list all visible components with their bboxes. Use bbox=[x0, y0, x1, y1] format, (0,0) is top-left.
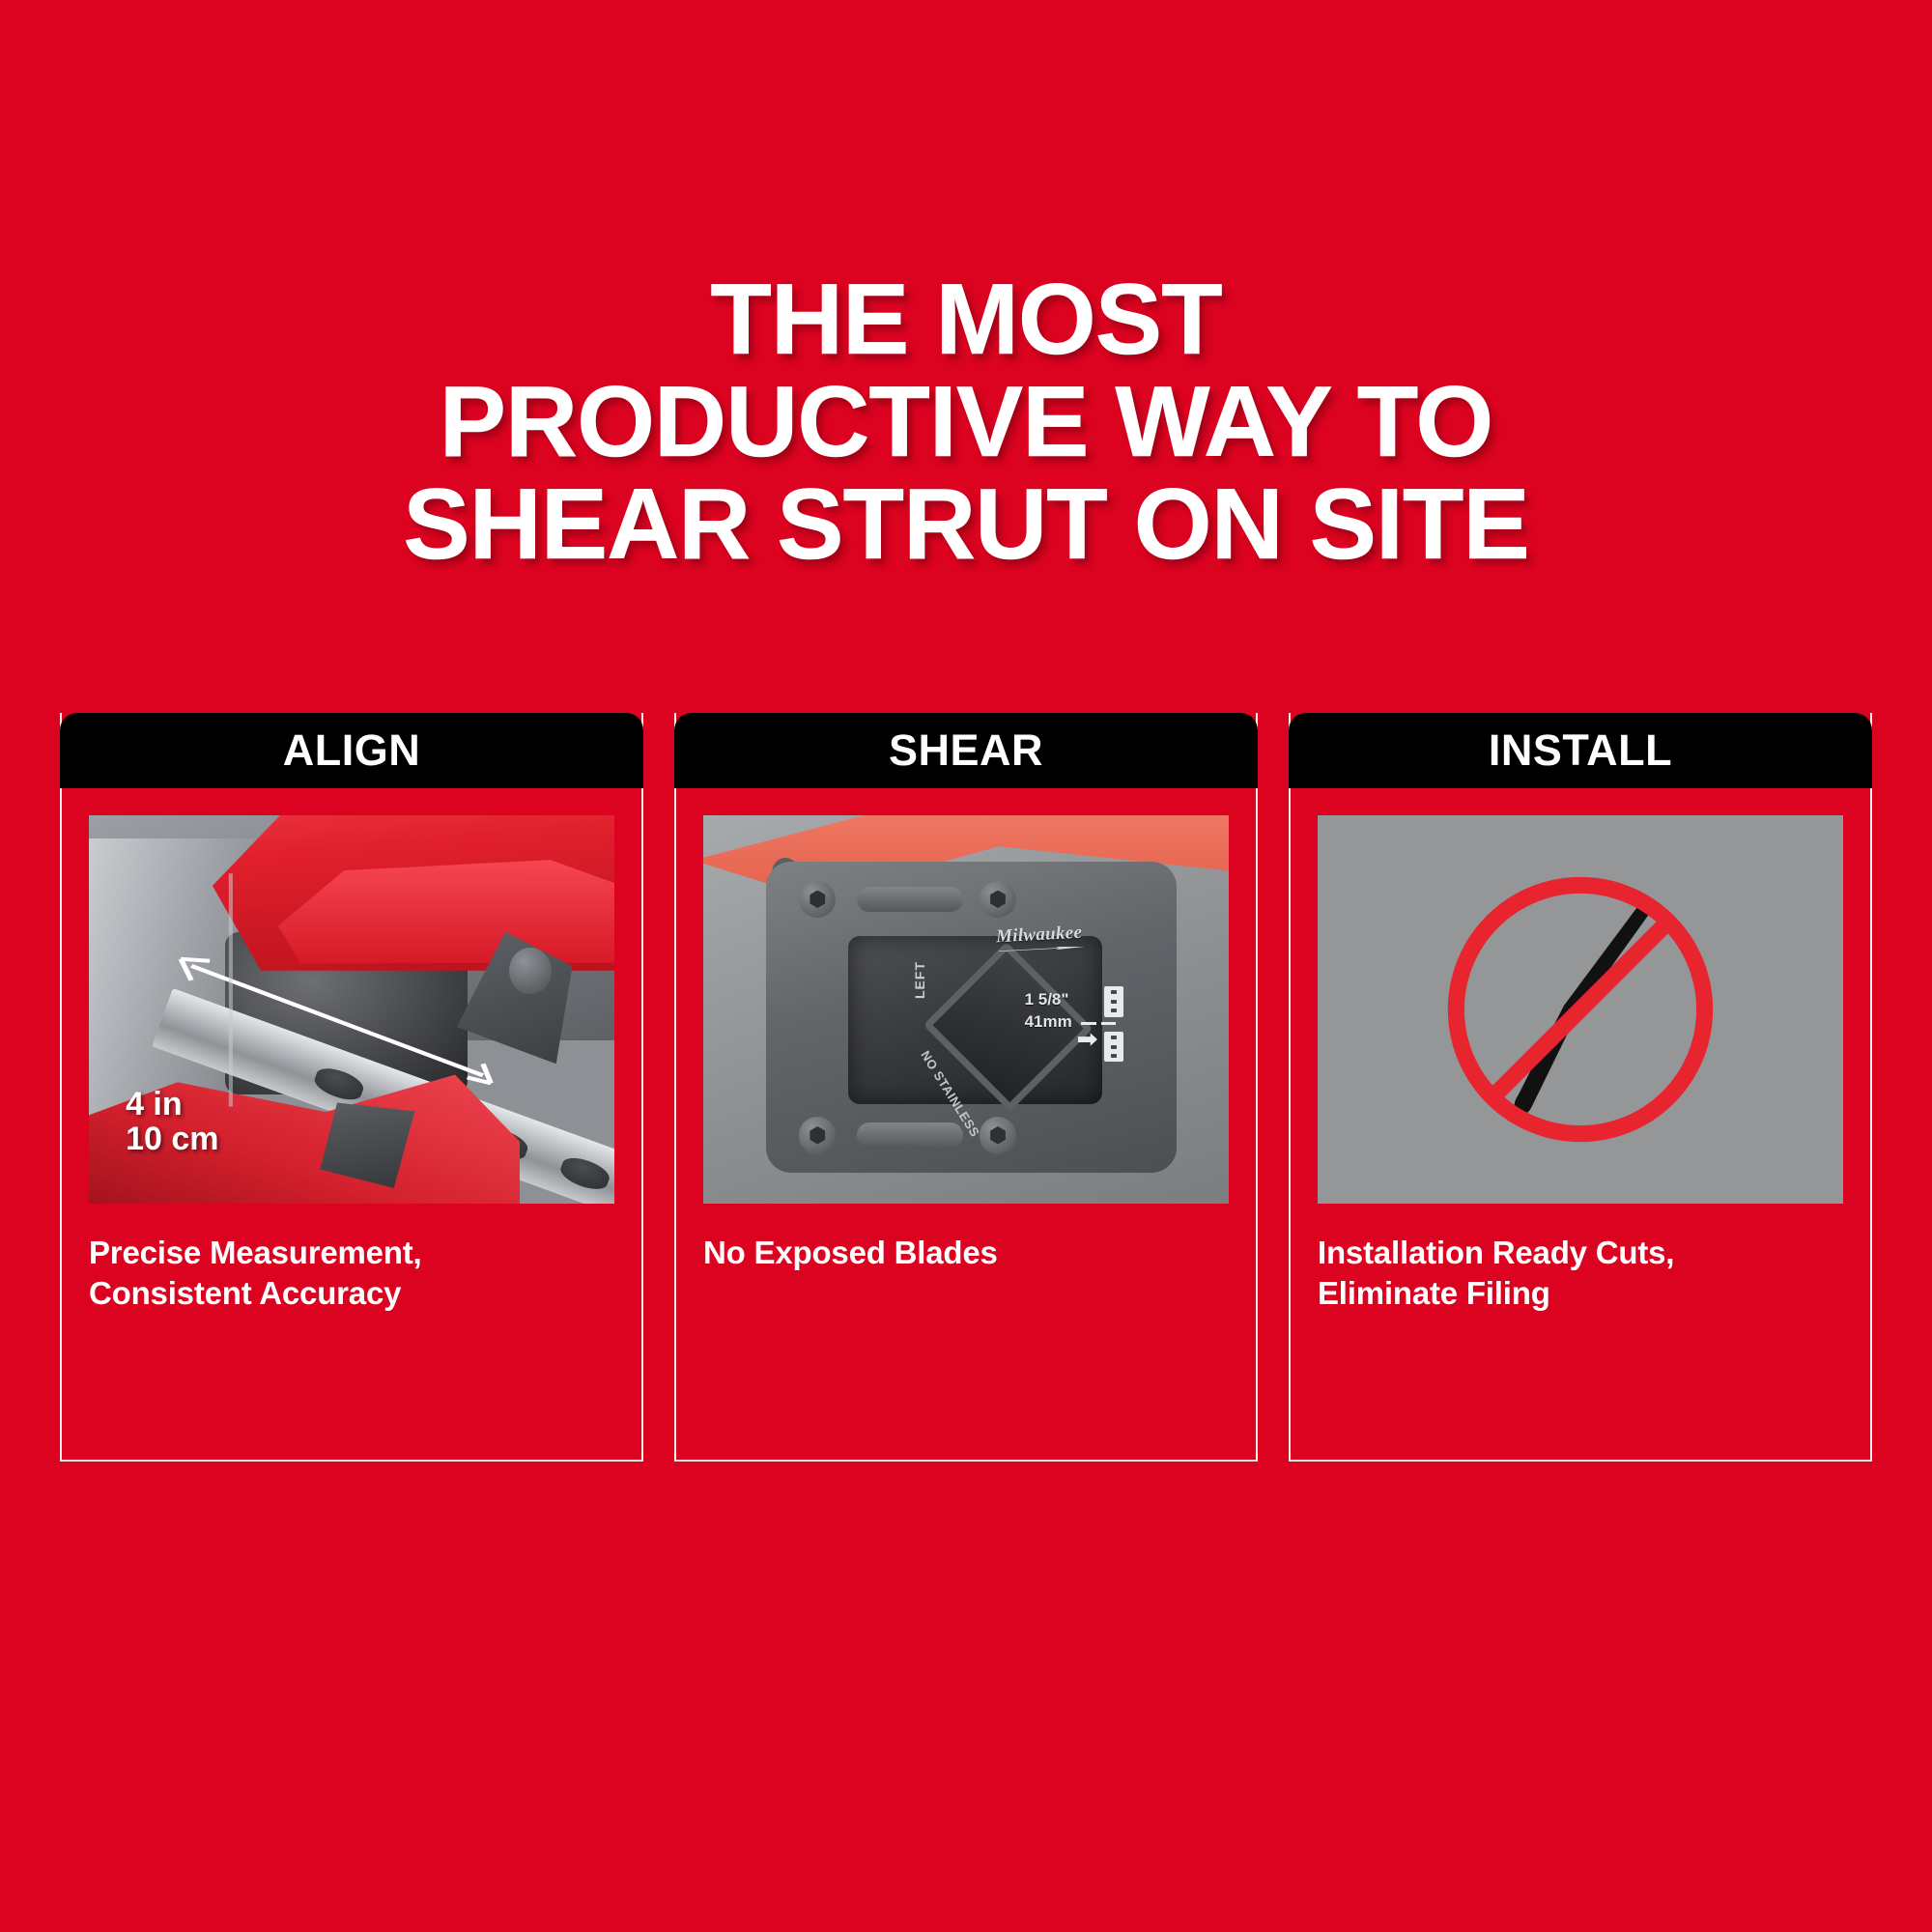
align-photo-strut-hole bbox=[558, 1152, 613, 1194]
dimension-inches: 4 in bbox=[126, 1088, 218, 1122]
card-caption-align-line-2: Consistent Accuracy bbox=[89, 1273, 614, 1314]
prohibition-slash bbox=[1493, 923, 1668, 1097]
shear-photo-head-body: Milwaukee 1 5/8" 41mm LEFT NO STAINLESS bbox=[766, 862, 1176, 1173]
card-image-align: 4 in 10 cm bbox=[89, 815, 614, 1204]
shear-size-millimeters: 41mm bbox=[1025, 1011, 1072, 1034]
install-graphic-panel bbox=[1318, 815, 1843, 1204]
headline-line-3: SHEAR STRUT ON SITE bbox=[0, 473, 1932, 576]
align-photo-pivot-bolt bbox=[509, 948, 552, 994]
shear-photo-left-stamp: LEFT bbox=[912, 961, 927, 999]
feature-cards-row: ALIGN bbox=[60, 713, 1872, 1462]
card-header-label-align: ALIGN bbox=[283, 725, 421, 776]
card-header-align: ALIGN bbox=[60, 713, 643, 788]
card-caption-install-line-1: Installation Ready Cuts, bbox=[1318, 1233, 1843, 1273]
feature-card-install: INSTALL Installation Ready Cuts, Elimina… bbox=[1289, 713, 1872, 1462]
align-photo: 4 in 10 cm bbox=[89, 815, 614, 1204]
card-caption-align-line-1: Precise Measurement, bbox=[89, 1233, 614, 1273]
shear-photo-bolt bbox=[980, 1117, 1016, 1154]
shear-photo-bolt bbox=[980, 881, 1016, 919]
no-filing-prohibition-icon bbox=[1318, 815, 1843, 1204]
card-header-label-install: INSTALL bbox=[1489, 725, 1672, 776]
card-caption-install-line-2: Eliminate Filing bbox=[1318, 1273, 1843, 1314]
card-header-install: INSTALL bbox=[1289, 713, 1872, 788]
headline-line-1: THE MOST bbox=[0, 269, 1932, 371]
headline-line-2: PRODUCTIVE WAY TO bbox=[0, 371, 1932, 473]
card-caption-shear-line-1: No Exposed Blades bbox=[703, 1233, 1229, 1273]
shear-size-inches: 1 5/8" bbox=[1025, 989, 1072, 1011]
card-caption-align: Precise Measurement, Consistent Accuracy bbox=[62, 1204, 641, 1313]
align-photo-strut-hole bbox=[311, 1063, 366, 1104]
page-title: THE MOST PRODUCTIVE WAY TO SHEAR STRUT O… bbox=[0, 269, 1932, 576]
card-caption-shear: No Exposed Blades bbox=[676, 1204, 1256, 1273]
shear-photo-slot bbox=[857, 1122, 963, 1148]
strut-cut-pictogram-icon bbox=[1078, 986, 1135, 1067]
dimension-centimeters: 10 cm bbox=[126, 1122, 218, 1157]
shear-photo: Milwaukee 1 5/8" 41mm LEFT NO STAINLESS bbox=[703, 815, 1229, 1204]
card-caption-install: Installation Ready Cuts, Eliminate Filin… bbox=[1291, 1204, 1870, 1313]
shear-photo-bolt bbox=[799, 1117, 836, 1154]
card-header-label-shear: SHEAR bbox=[889, 725, 1043, 776]
card-header-shear: SHEAR bbox=[674, 713, 1258, 788]
shear-photo-bolt bbox=[799, 881, 836, 919]
shear-photo-slot bbox=[857, 887, 963, 912]
milwaukee-logo: Milwaukee bbox=[995, 922, 1082, 948]
dimension-callout: 4 in 10 cm bbox=[126, 1088, 218, 1156]
card-image-shear: Milwaukee 1 5/8" 41mm LEFT NO STAINLESS bbox=[703, 815, 1229, 1204]
card-image-install bbox=[1318, 815, 1843, 1204]
feature-card-shear: SHEAR Milwaukee 1 5/8" bbox=[674, 713, 1258, 1462]
feature-card-align: ALIGN bbox=[60, 713, 643, 1462]
shear-photo-size-stamp: 1 5/8" 41mm bbox=[1025, 989, 1072, 1034]
